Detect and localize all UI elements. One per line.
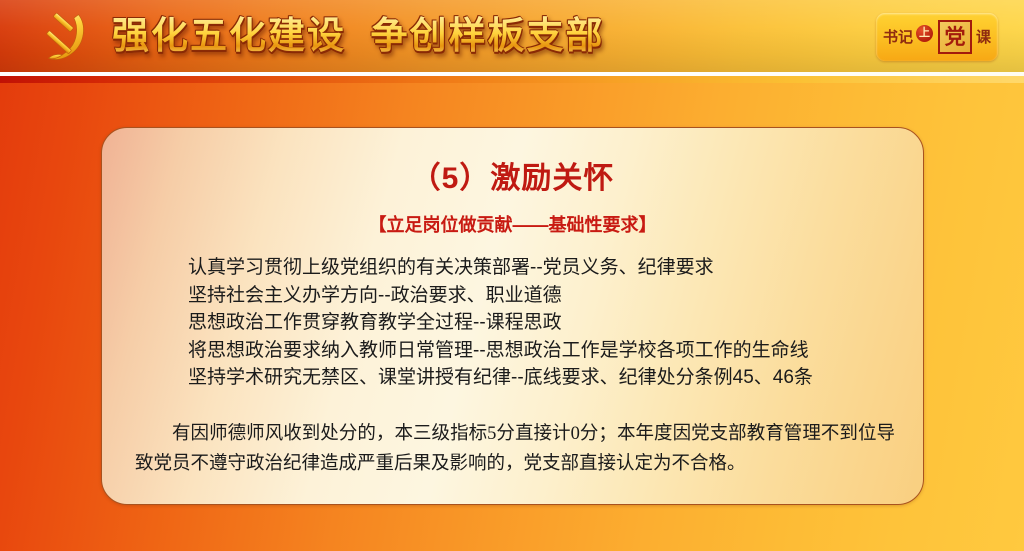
content-panel: （5）激励关怀 【立足岗位做贡献——基础性要求】 认真学习贯彻上级党组织的有关决… bbox=[101, 127, 924, 505]
banner-title: 强化五化建设 争创样板支部 bbox=[112, 11, 605, 61]
logo-suffix-text: 课 bbox=[976, 30, 991, 45]
program-logo[interactable]: 书记 上 党 课 bbox=[876, 13, 998, 61]
list-item: 认真学习贯彻上级党组织的有关决策部署--党员义务、纪律要求 bbox=[188, 254, 903, 282]
logo-shang-badge-icon: 上 bbox=[916, 25, 933, 42]
list-item: 坚持学术研究无禁区、课堂讲授有纪律--底线要求、纪律处分条例45、46条 bbox=[188, 364, 903, 392]
penalty-note-paragraph: 有因师德师风收到处分的，本三级指标5分直接计0分；本年度因党支部教育管理不到位导… bbox=[135, 419, 895, 479]
slide-root: 强化五化建设 争创样板支部 书记 上 党 课 （5）激励关怀 【立足岗位做贡献—… bbox=[0, 0, 1024, 551]
list-item: 思想政治工作贯穿教育教学全过程--课程思政 bbox=[188, 309, 903, 337]
list-item: 将思想政治要求纳入教师日常管理--思想政治工作是学校各项工作的生命线 bbox=[188, 337, 903, 365]
logo-seal-text: 党 bbox=[945, 27, 966, 48]
hammer-and-sickle-party-emblem-icon bbox=[38, 10, 96, 64]
panel-subtitle: 【立足岗位做贡献——基础性要求】 bbox=[102, 215, 923, 237]
requirement-list: 认真学习贯彻上级党组织的有关决策部署--党员义务、纪律要求 坚持社会主义办学方向… bbox=[188, 254, 903, 392]
panel-title: （5）激励关怀 bbox=[102, 161, 923, 197]
logo-seal-icon: 党 bbox=[938, 20, 972, 54]
header-banner: 强化五化建设 争创样板支部 书记 上 党 课 bbox=[0, 0, 1024, 72]
banner-separator-gradient bbox=[0, 76, 1024, 83]
list-item: 坚持社会主义办学方向--政治要求、职业道德 bbox=[188, 282, 903, 310]
logo-prefix-text: 书记 bbox=[883, 30, 913, 45]
